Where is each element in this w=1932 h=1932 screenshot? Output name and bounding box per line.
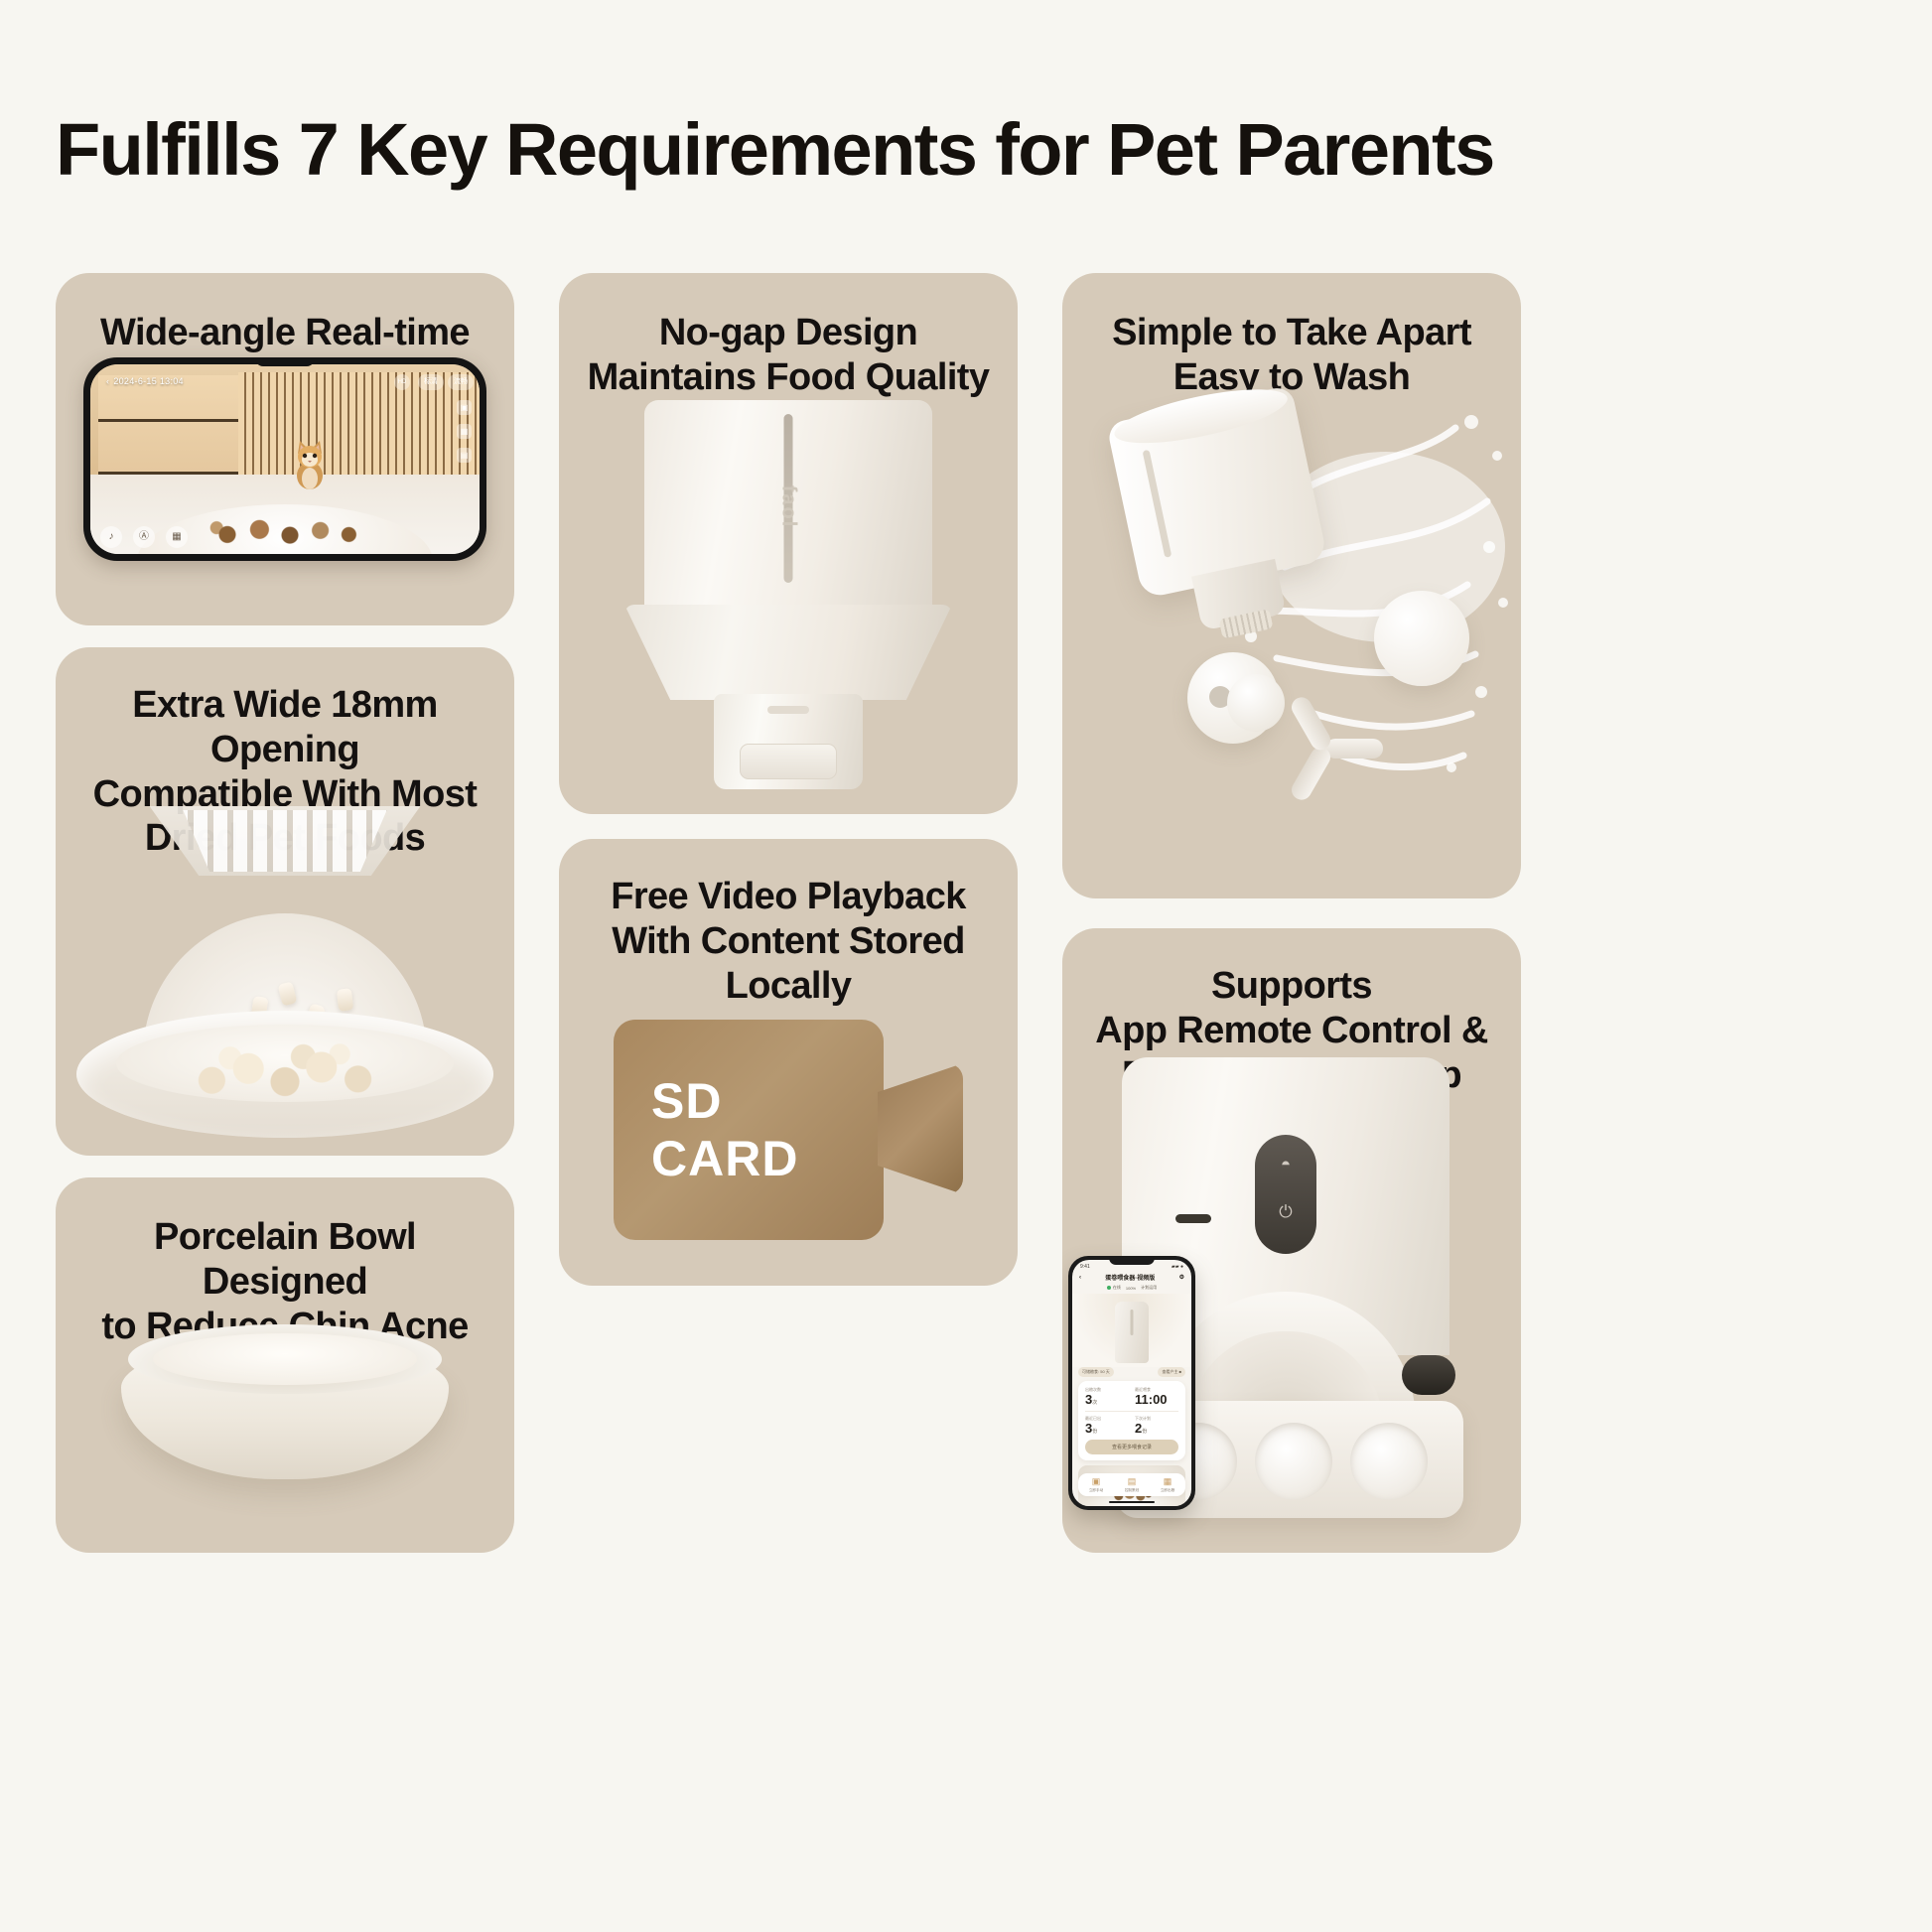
quality-pill-smooth[interactable]: 流畅: [448, 374, 474, 390]
back-chevron-icon[interactable]: ‹: [106, 376, 109, 386]
snapshot-icon[interactable]: ▣: [457, 400, 472, 415]
feeder-hopper-part: [1106, 385, 1338, 647]
home-indicator: [1109, 1501, 1155, 1503]
camera-lens: [878, 1063, 963, 1194]
sound-icon[interactable]: ♪: [100, 526, 122, 548]
hopper-top: faol: [644, 400, 932, 611]
card-title-line-1: Free Video Playback: [611, 876, 966, 917]
video-timestamp: ‹2024-6-15 13:04: [106, 376, 184, 386]
video-wood-panel: [98, 375, 238, 474]
funnel-ribs: [174, 810, 395, 872]
stat-last-feed-time: 最近喂食 11:00: [1135, 1387, 1178, 1407]
card-porcelain-bowl: Porcelain Bowl Designed to Reduce Chin A…: [56, 1177, 514, 1553]
feeder-control-panel: ◓ ⏻: [1255, 1135, 1316, 1254]
phone-notch: [1109, 1256, 1155, 1265]
infographic-page: Fulfills 7 Key Requirements for Pet Pare…: [0, 0, 1932, 1932]
device-hero-image: [1072, 1294, 1191, 1367]
stats-grid: 出粮次数 3次 最近喂食 11:00: [1085, 1387, 1178, 1407]
chip-label: 在线: [1113, 1285, 1121, 1291]
schedule-icon: ▤: [1125, 1477, 1139, 1486]
impeller-part: [1265, 702, 1386, 775]
food-remaining-tag: 可储粮食: 50 天: [1078, 1367, 1114, 1377]
status-chip-plan: 计划运用: [1141, 1285, 1157, 1291]
feeding-stats-card: 出粮次数 3次 最近喂食 11:00 最近已出 3份: [1078, 1381, 1185, 1460]
chip-label: 计划运用: [1141, 1285, 1157, 1291]
feeder-camera-knob: [1402, 1355, 1455, 1395]
card-title-no-gap-design: No-gap Design Maintains Food Quality: [559, 311, 1018, 400]
impeller-blade: [1288, 694, 1333, 754]
feeder-vent: [1175, 1214, 1211, 1223]
page-title: Fulfills 7 Key Requirements for Pet Pare…: [56, 107, 1882, 192]
stat-last-portion: 最近已出 3份: [1085, 1416, 1129, 1436]
stat-value: 2份: [1135, 1422, 1178, 1436]
tab-schedule[interactable]: ▤ 控制策划: [1125, 1477, 1139, 1493]
card-title-simple-to-take-apart: Simple to Take Apart Easy to Wash: [1062, 311, 1521, 400]
status-icons: ▰▰ ●: [1172, 1264, 1183, 1270]
owner-tag[interactable]: 查看户主 ■: [1158, 1367, 1185, 1377]
back-chevron-icon[interactable]: ‹: [1079, 1275, 1081, 1281]
card-title-line-3: Locally: [726, 965, 852, 1007]
video-bottom-toolbar[interactable]: ♪ Ⓐ ▦: [100, 526, 188, 548]
round-lid-part: [1374, 591, 1469, 686]
hopper-bottom: [714, 694, 863, 789]
hopper-middle: [624, 605, 952, 700]
card-title-free-video-playback: Free Video Playback With Content Stored …: [559, 875, 1018, 1008]
divider: [1085, 1411, 1178, 1412]
tab-manual-feed[interactable]: ▣ 立即手动: [1089, 1477, 1103, 1493]
card-title-line-1: Porcelain Bowl Designed: [154, 1216, 416, 1303]
card-title-line-2: With Content Stored: [612, 920, 965, 962]
tab-label: 立即手动: [1089, 1488, 1103, 1493]
phone-screen-video: ‹2024-6-15 13:04 HD 标清 流畅 ▣ ▦ ▤ ♪ Ⓐ ▦: [90, 364, 480, 554]
camera-body: SD CARD: [614, 1020, 884, 1240]
phone-notch: [255, 357, 315, 366]
card-extra-wide-opening: Extra Wide 18mm Opening Compatible With …: [56, 647, 514, 1156]
wifi-icon: ◓: [1281, 1155, 1291, 1174]
kibble-pile: [171, 1035, 399, 1100]
device-thumbnail: [1115, 1302, 1149, 1363]
tab-label: 控制策划: [1125, 1488, 1139, 1493]
status-chip-online: 在线: [1107, 1285, 1121, 1291]
card-title-line-1: Supports: [1211, 965, 1372, 1007]
card-simple-to-take-apart: Simple to Take Apart Easy to Wash: [1062, 273, 1521, 898]
record-icon[interactable]: ▦: [457, 424, 472, 439]
card-title-line-2: App Remote Control &: [1095, 1010, 1487, 1051]
timestamp-text: 2024-6-15 13:04: [113, 376, 184, 386]
card-title-line-1: No-gap Design: [659, 312, 917, 353]
cat-illustration: [289, 432, 331, 489]
view-more-records-button[interactable]: 查看更多喂食记录: [1085, 1440, 1178, 1454]
feeder-bowl-2: [1255, 1423, 1332, 1500]
hopper-tab: [767, 706, 809, 714]
hd-badge-icon[interactable]: HD: [394, 374, 410, 390]
porcelain-bowl-illustration: [121, 1324, 449, 1491]
impeller-blade: [1288, 744, 1333, 803]
status-time: 9:41: [1080, 1264, 1090, 1270]
status-chip-row: 在线 100% 计划运用: [1072, 1285, 1191, 1294]
stat-unit: 份: [1142, 1429, 1147, 1435]
hopper-slot: [1143, 450, 1173, 558]
app-nav-title: 蛋卷喂食器·视频版: [1105, 1273, 1155, 1282]
card-title-line-2: Maintains Food Quality: [588, 356, 990, 398]
app-tab-bar[interactable]: ▣ 立即手动 ▤ 控制策划 ▦ 立即出粮: [1078, 1473, 1185, 1496]
sd-card-camera-icon: SD CARD: [614, 1020, 963, 1240]
card-title-line-1: Simple to Take Apart: [1112, 312, 1471, 353]
stat-next-portion: 下次计划 2份: [1135, 1416, 1178, 1436]
video-wood-slats: [238, 372, 480, 479]
impeller-blade: [1325, 739, 1383, 759]
video-kibble: [192, 514, 370, 548]
stat-unit: 份: [1092, 1429, 1097, 1435]
mic-icon[interactable]: Ⓐ: [133, 526, 155, 548]
card-wide-angle-video: Wide-angle Real-time Video Recording: [56, 273, 514, 625]
dispenser-funnel: [131, 806, 439, 925]
brand-logo: faol: [777, 485, 800, 529]
feed-icon[interactable]: ▦: [166, 526, 188, 548]
stats-grid-secondary: 最近已出 3份 下次计划 2份: [1085, 1416, 1178, 1436]
stat-value: 3次: [1085, 1393, 1129, 1407]
kibble-piece: [337, 988, 353, 1011]
feed-now-icon: ▦: [1161, 1477, 1174, 1486]
card-free-video-playback: Free Video Playback With Content Stored …: [559, 839, 1018, 1286]
stat-number: 11:00: [1135, 1392, 1168, 1407]
card-app-remote-control: Supports App Remote Control & Dry Batter…: [1062, 928, 1521, 1553]
card-title-line-1: Wide-angle Real-time: [100, 312, 470, 353]
phone-app-screen: 9:41 ▰▰ ● ‹ 蛋卷喂食器·视频版 ⚙ 在线 100% 计划运用: [1072, 1260, 1191, 1506]
bowl-rim: [128, 1324, 443, 1394]
sd-card-label: SD CARD: [651, 1072, 884, 1187]
online-dot-icon: [1107, 1286, 1111, 1290]
stat-feed-count: 出粮次数 3次: [1085, 1387, 1129, 1407]
feeder-hopper-front: faol: [624, 400, 952, 787]
tag-row: 可储粮食: 50 天 查看户主 ■: [1072, 1367, 1191, 1381]
feeder-bowl-3: [1350, 1423, 1428, 1500]
card-title-line-1: Extra Wide 18mm Opening: [132, 684, 437, 770]
chip-label: 100%: [1126, 1286, 1136, 1291]
manual-feed-icon: ▣: [1089, 1477, 1103, 1486]
hopper-door: [740, 744, 837, 779]
bowl-interior: [153, 1333, 417, 1385]
stat-value: 3份: [1085, 1422, 1129, 1436]
video-side-toolbar[interactable]: ▣ ▦ ▤: [457, 400, 472, 463]
phone-app-mockup: 9:41 ▰▰ ● ‹ 蛋卷喂食器·视频版 ⚙ 在线 100% 计划运用: [1068, 1256, 1195, 1510]
card-no-gap-design: No-gap Design Maintains Food Quality fao…: [559, 273, 1018, 814]
power-icon: ⏻: [1279, 1202, 1292, 1222]
tab-label: 立即出粮: [1161, 1488, 1174, 1493]
stat-unit: 次: [1092, 1400, 1097, 1406]
gear-icon[interactable]: ⚙: [1179, 1274, 1184, 1281]
quality-pill-standard[interactable]: 标清: [418, 374, 444, 390]
tab-feed-now[interactable]: ▦ 立即出粮: [1161, 1477, 1174, 1493]
stat-value: 11:00: [1135, 1393, 1178, 1407]
app-nav-bar: ‹ 蛋卷喂食器·视频版 ⚙: [1072, 1270, 1191, 1285]
phone-video-mockup: ‹2024-6-15 13:04 HD 标清 流畅 ▣ ▦ ▤ ♪ Ⓐ ▦: [83, 357, 486, 561]
album-icon[interactable]: ▤: [457, 448, 472, 463]
status-chip-battery: 100%: [1126, 1285, 1136, 1291]
